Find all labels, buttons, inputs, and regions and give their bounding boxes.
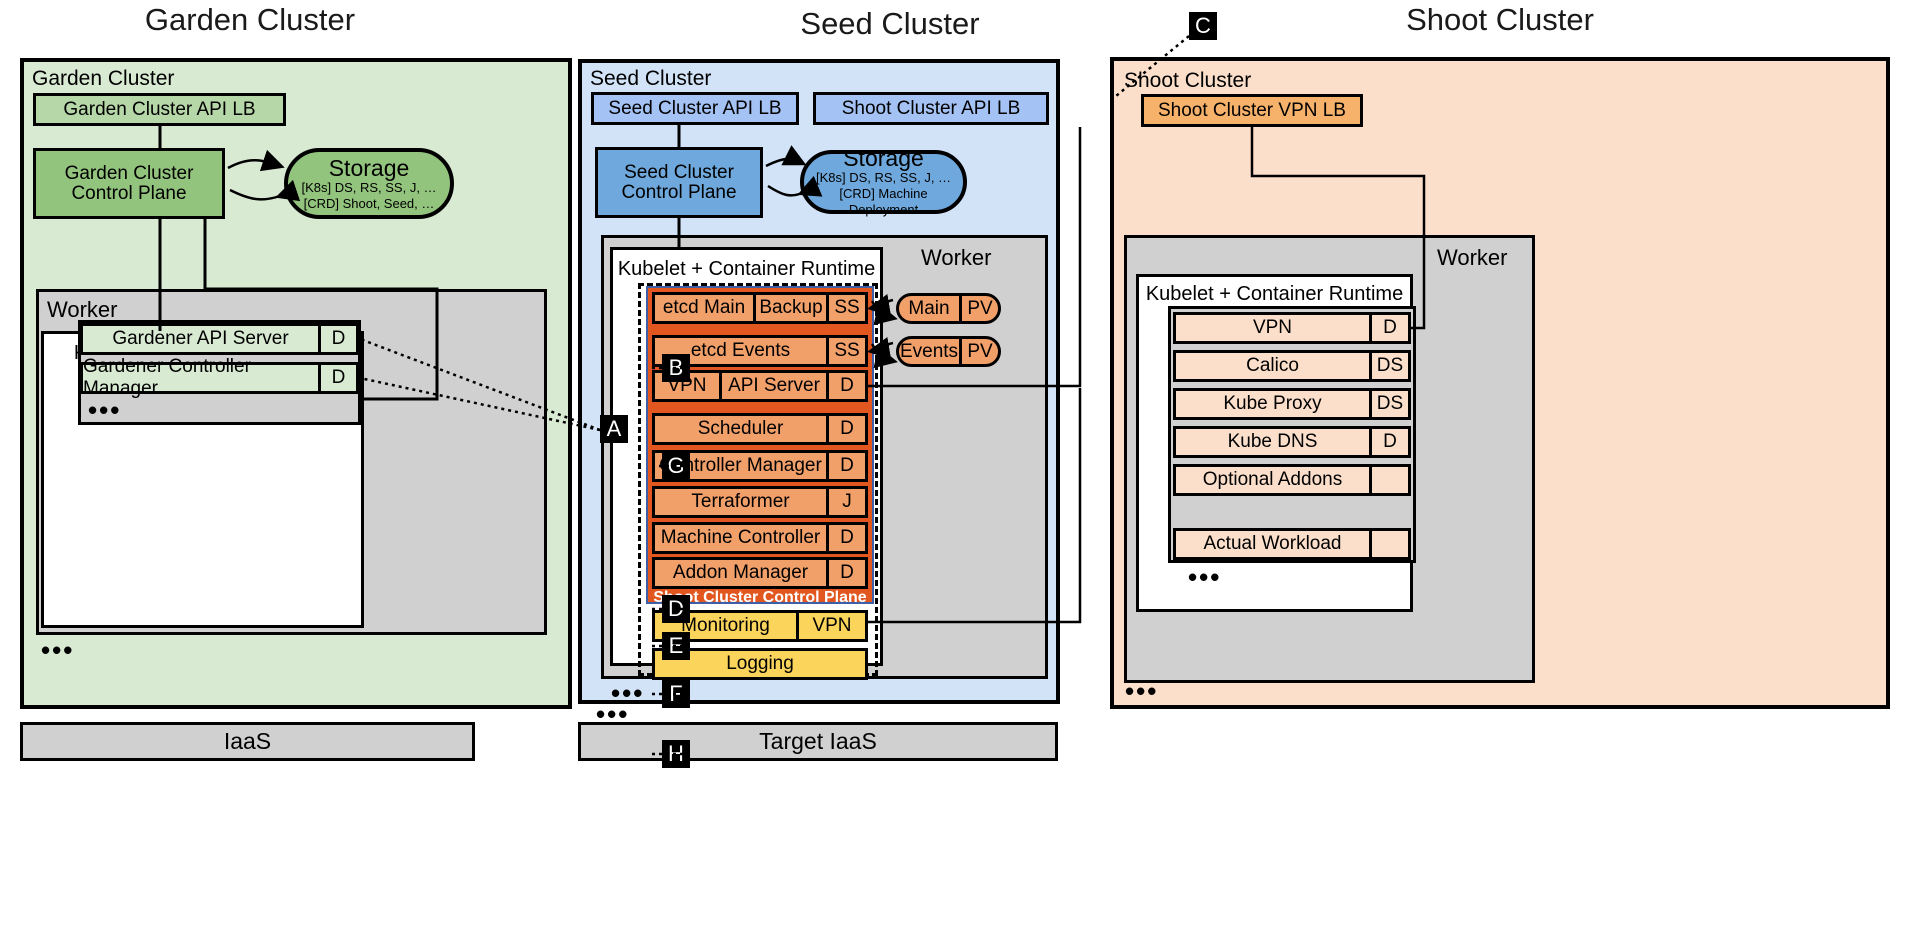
callout-tag-c[interactable]: C [1189,12,1217,40]
callout-tag-a[interactable]: A [600,415,628,443]
shoot-pod-kind-1: DS [1369,353,1408,379]
shoot-worker-label: Worker [1437,245,1508,271]
seed-storage: Storage [K8s] DS, RS, SS, J, … [CRD] Mac… [800,150,967,214]
shoot-pod-row-3[interactable]: Kube DNS D [1173,426,1411,458]
seed-storage-title: Storage [843,146,924,170]
callout-tag-d[interactable]: D [662,595,690,623]
seed-pod-kind-2: D [826,373,865,399]
shoot-pod-ellipsis: ••• [1188,572,1221,582]
seed-pod-mid-0: Backup [753,295,826,321]
garden-storage-line1: [K8s] DS, RS, SS, J, … [301,180,436,196]
shoot-pod-name-2: Kube Proxy [1176,391,1369,417]
shoot-pod-name-1: Calico [1176,353,1369,379]
shoot-api-lb[interactable]: Shoot Cluster API LB [813,92,1049,125]
seed-extra-side-0: VPN [796,613,865,639]
seed-volume-kind-1: PV [959,339,998,364]
seed-pod-name-5: Terraformer [655,489,826,515]
garden-cluster-label: Garden Cluster [32,68,174,89]
shoot-worker-ellipsis: ••• [1125,686,1158,696]
callout-tag-h[interactable]: H [662,740,690,768]
callout-tag-g[interactable]: G [662,452,690,480]
seed-pod-kind-4: D [826,453,865,479]
shoot-pod-kind-3: D [1369,429,1408,455]
shoot-pod-name-4: Optional Addons [1176,467,1369,493]
garden-control-plane-line1: Garden Cluster [65,164,194,184]
seed-pod-name-0: etcd Main [655,295,753,321]
garden-control-plane-line2: Control Plane [71,184,186,204]
garden-storage: Storage [K8s] DS, RS, SS, J, … [CRD] Sho… [284,148,454,219]
shoot-pod-name-3: Kube DNS [1176,429,1369,455]
seed-pod-name-3: Scheduler [655,416,826,442]
garden-pod-row-1[interactable]: Gardener Controller Manager D [80,362,359,394]
shoot-pod-row-1[interactable]: Calico DS [1173,350,1411,382]
garden-storage-title: Storage [329,156,410,180]
shoot-cluster-title: Shoot Cluster [1330,2,1670,38]
seed-pod-row-3[interactable]: Scheduler D [652,413,868,445]
seed-control-plane[interactable]: Seed Cluster Control Plane [595,147,763,218]
seed-pod-row-6[interactable]: Machine Controller D [652,522,868,554]
shoot-pod-row-2[interactable]: Kube Proxy DS [1173,388,1411,420]
shoot-pod-row-4[interactable]: Optional Addons [1173,464,1411,496]
seed-pod-name-6: Machine Controller [655,525,826,551]
seed-pod-kind-6: D [826,525,865,551]
seed-pod-name-2: API Server [719,373,826,399]
shoot-pod-kind-2: DS [1369,391,1408,417]
garden-pod-kind-1: D [318,365,356,391]
garden-control-plane[interactable]: Garden Cluster Control Plane [33,148,225,219]
shoot-vpn-lb[interactable]: Shoot Cluster VPN LB [1141,94,1363,127]
seed-volume-0: Main PV [896,293,1001,324]
seed-api-lb[interactable]: Seed Cluster API LB [591,92,799,125]
seed-pod-kind-7: D [826,560,865,586]
seed-cluster-title: Seed Cluster [720,6,1060,42]
shoot-workload-kind [1369,531,1408,557]
garden-pod-name-0: Gardener API Server [83,326,318,352]
garden-storage-line2: [CRD] Shoot, Seed, … [304,196,435,212]
seed-control-plane-line2: Control Plane [621,183,736,203]
seed-worker-label: Worker [921,245,992,271]
seed-cluster-label: Seed Cluster [590,68,711,89]
seed-pod-name-7: Addon Manager [655,560,826,586]
seed-iaas-bar: Target IaaS [578,722,1058,761]
shoot-pod-kind-4 [1369,467,1408,493]
garden-pod-kind-0: D [318,326,356,352]
garden-cluster-title: Garden Cluster [80,2,420,38]
garden-pod-ellipsis: ••• [88,405,121,415]
callout-tag-b[interactable]: B [662,354,690,382]
shoot-workload-row[interactable]: Actual Workload [1173,528,1411,560]
seed-volume-kind-0: PV [959,296,998,321]
garden-pod-name-1: Gardener Controller Manager [83,365,318,391]
seed-pod-row-0[interactable]: etcd Main Backup SS [652,292,868,324]
seed-pod-kind-5: J [826,489,865,515]
shoot-pod-row-0[interactable]: VPN D [1173,312,1411,344]
seed-cluster-ellipsis: ••• [596,709,629,719]
seed-storage-line2: [CRD] Machine Deployment [804,186,963,218]
seed-volume-1: Events PV [896,336,1001,367]
callout-tag-e[interactable]: E [662,632,690,660]
garden-pod-row-0[interactable]: Gardener API Server D [80,323,359,355]
shoot-workload-name: Actual Workload [1176,531,1369,557]
seed-control-plane-line1: Seed Cluster [624,163,734,183]
seed-pod-kind-0: SS [826,295,865,321]
garden-worker-ellipsis: ••• [41,645,74,655]
seed-volume-name-0: Main [899,296,959,321]
seed-pod-kind-1: SS [826,338,865,364]
seed-storage-line1: [K8s] DS, RS, SS, J, … [816,170,951,186]
seed-pod-row-7[interactable]: Addon Manager D [652,557,868,589]
seed-worker-ellipsis: ••• [611,688,644,698]
shoot-cluster-label: Shoot Cluster [1124,70,1251,91]
seed-volume-name-1: Events [899,339,959,364]
seed-pod-kind-3: D [826,416,865,442]
callout-tag-f[interactable]: F [662,680,690,708]
garden-iaas-bar: IaaS [20,722,475,761]
garden-api-lb[interactable]: Garden Cluster API LB [33,93,286,126]
shoot-pod-name-0: VPN [1176,315,1369,341]
seed-pod-row-5[interactable]: Terraformer J [652,486,868,518]
shoot-pod-kind-0: D [1369,315,1408,341]
